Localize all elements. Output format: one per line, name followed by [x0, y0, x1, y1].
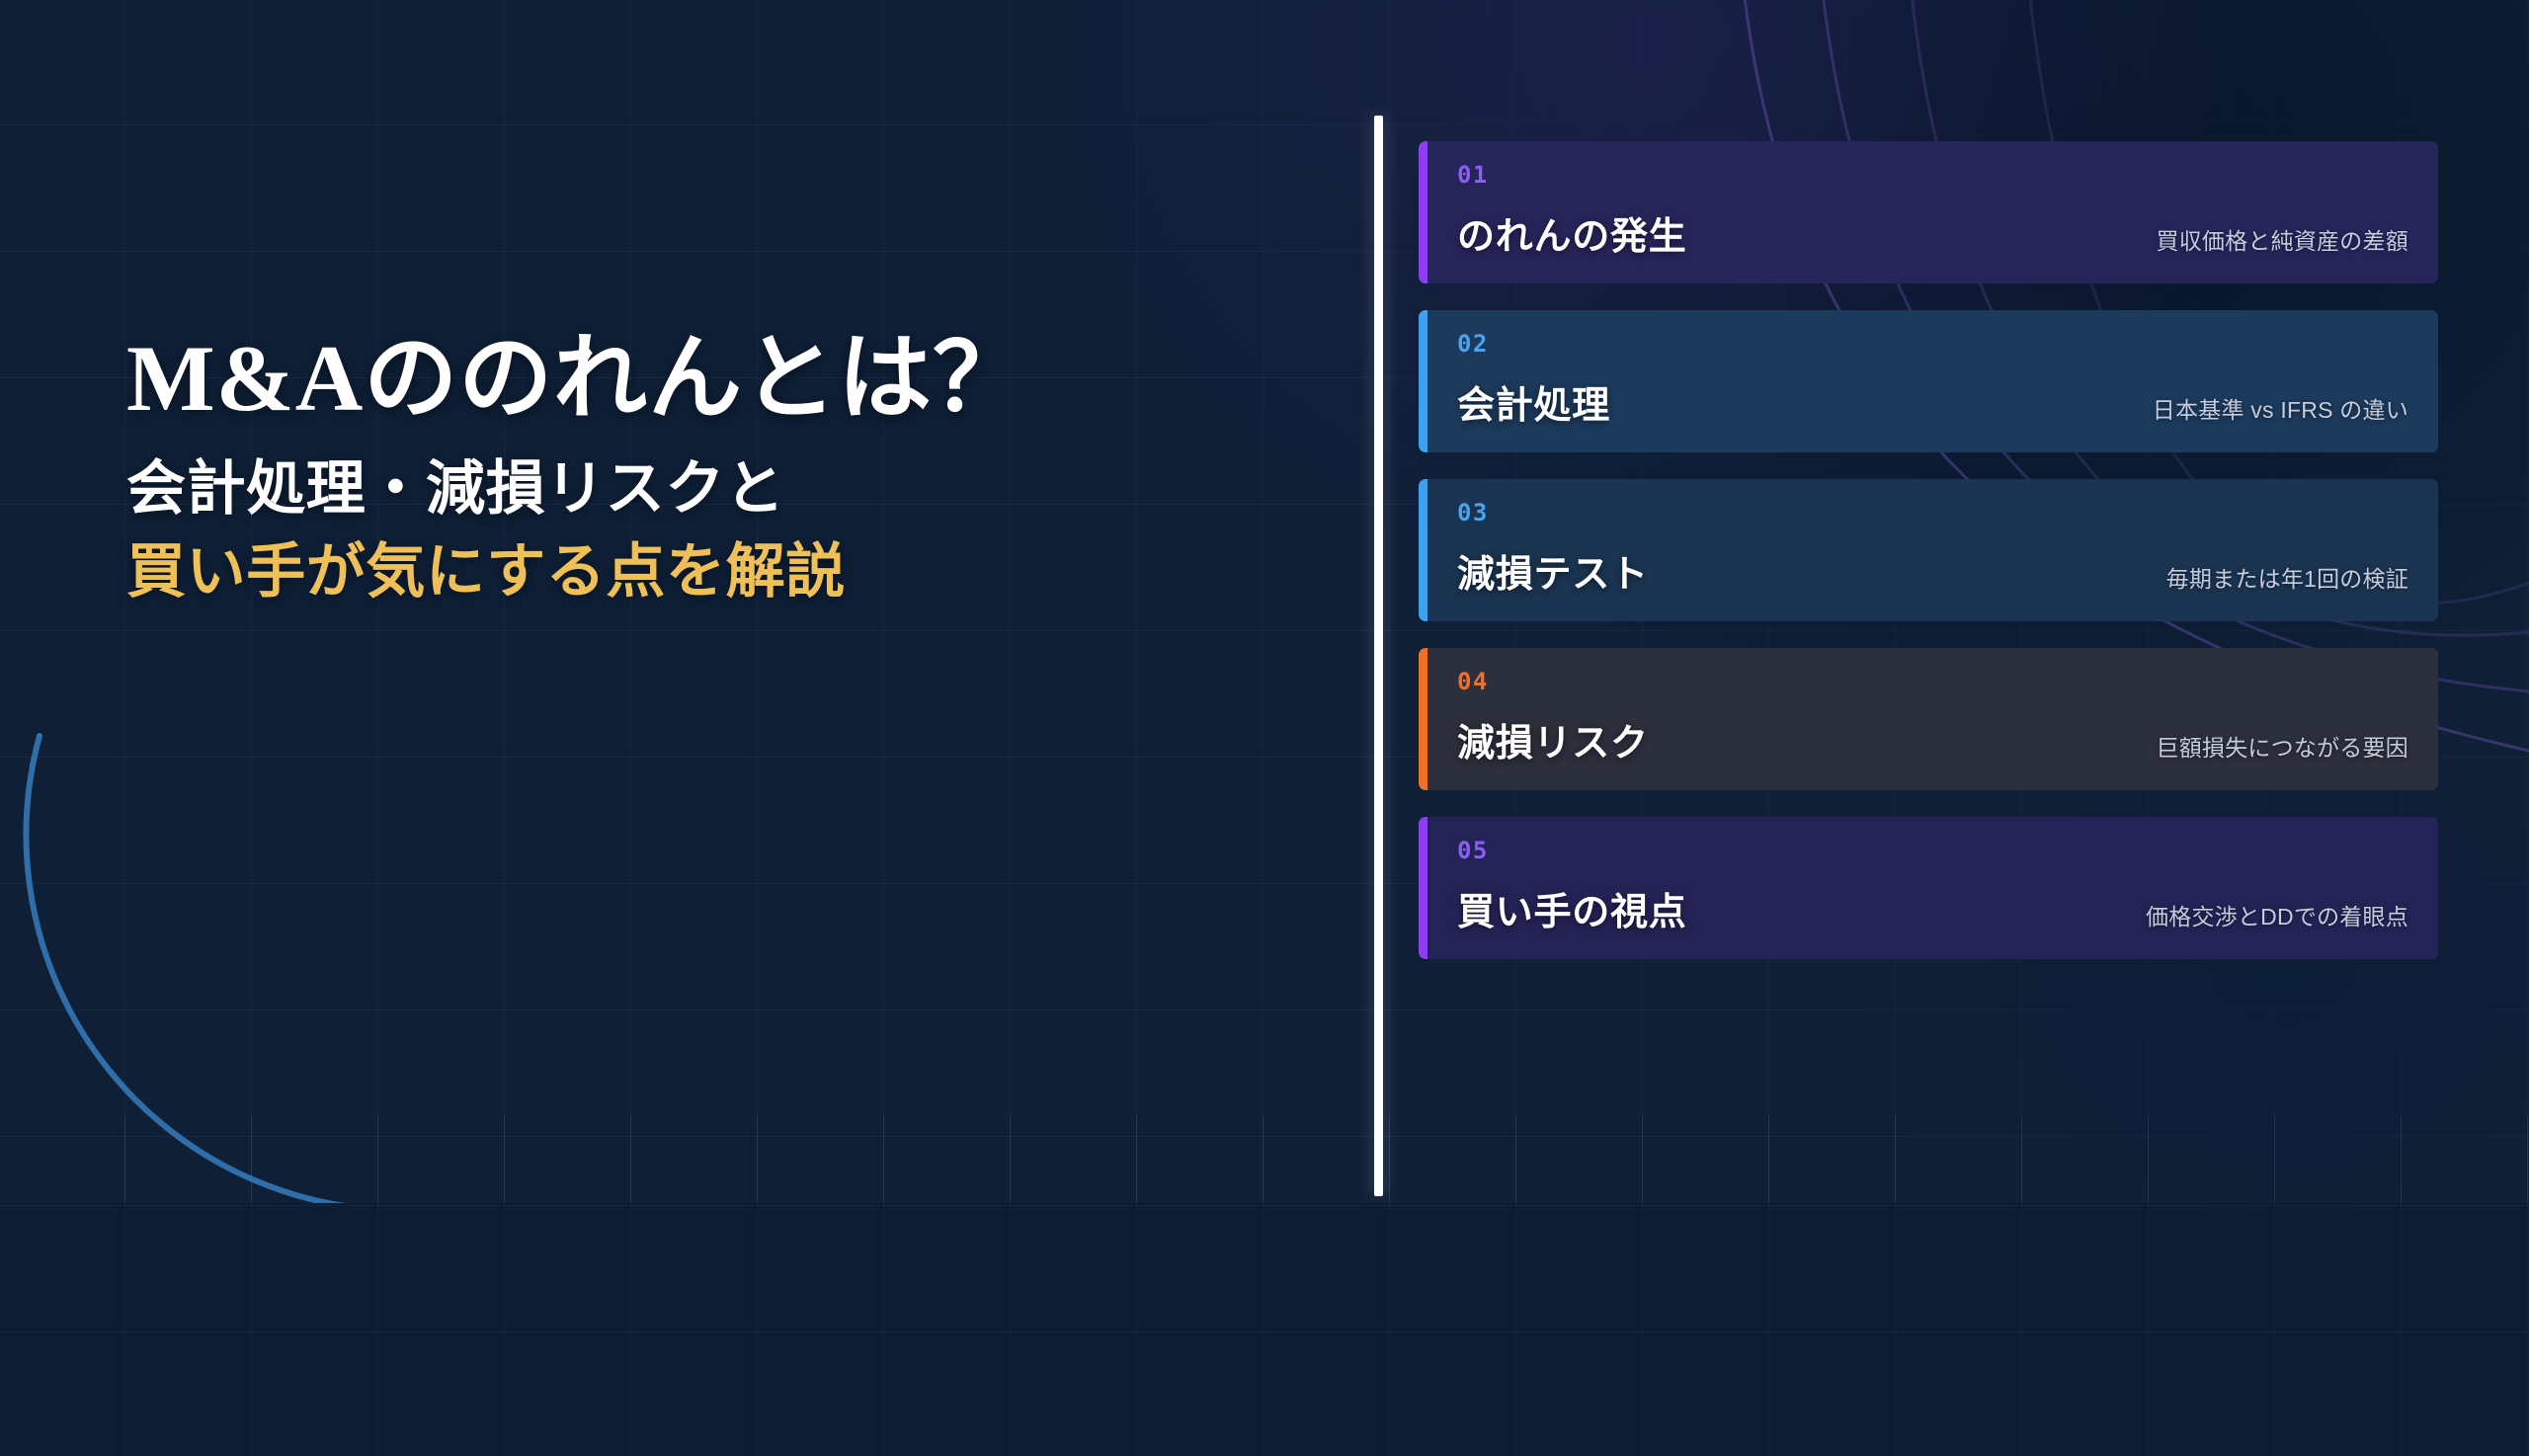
hero-subtitle-line-2: 買い手が気にする点を解説 — [126, 533, 1292, 610]
card-title-04: 減損リスク — [1457, 712, 1649, 767]
card-subtitle-05: 価格交渉とDDでの着眼点 — [2146, 898, 2408, 931]
card-row-02: 会計処理 日本基準 vs IFRS の違い — [1457, 374, 2408, 429]
card-number-03: 03 — [1457, 501, 2408, 525]
bottom-band — [0, 1203, 2529, 1456]
bottom-tick-row — [0, 1116, 2529, 1205]
card-body-02: 02 会計処理 日本基準 vs IFRS の違い — [1419, 310, 2438, 452]
hero-text-block: M&Aののれんとは？ 会計処理・減損リスクと 買い手が気にする点を解説 — [126, 326, 1292, 610]
card-title-02: 会計処理 — [1457, 374, 1610, 429]
card-number-05: 05 — [1457, 839, 2408, 862]
topic-card-list: 01 のれんの発生 買収価格と純資産の差額 02 会計処理 日本基準 vs IF… — [1419, 141, 2438, 959]
topic-card-03[interactable]: 03 減損テスト 毎期または年1回の検証 — [1419, 479, 2438, 621]
card-number-01: 01 — [1457, 163, 2408, 187]
slide-root: M&Aののれんとは？ 会計処理・減損リスクと 買い手が気にする点を解説 01 の… — [0, 0, 2529, 1456]
card-subtitle-04: 巨額損失につながる要因 — [2156, 729, 2408, 763]
card-body-01: 01 のれんの発生 買収価格と純資産の差額 — [1419, 141, 2438, 283]
card-row-04: 減損リスク 巨額損失につながる要因 — [1457, 712, 2408, 767]
card-subtitle-03: 毎期または年1回の検証 — [2166, 560, 2408, 594]
hero-subtitle-line-1: 会計処理・減損リスクと — [126, 450, 1292, 527]
topic-card-01[interactable]: 01 のれんの発生 買収価格と純資産の差額 — [1419, 141, 2438, 283]
vertical-divider — [1374, 116, 1383, 1196]
card-row-03: 減損テスト 毎期または年1回の検証 — [1457, 543, 2408, 598]
card-body-03: 03 減損テスト 毎期または年1回の検証 — [1419, 479, 2438, 621]
card-subtitle-01: 買収価格と純資産の差額 — [2156, 222, 2408, 256]
card-number-04: 04 — [1457, 670, 2408, 693]
card-body-05: 05 買い手の視点 価格交渉とDDでの着眼点 — [1419, 817, 2438, 959]
card-subtitle-02: 日本基準 vs IFRS の違い — [2153, 391, 2408, 425]
page-title: M&Aののれんとは？ — [126, 326, 1292, 431]
card-title-05: 買い手の視点 — [1457, 881, 1687, 935]
card-row-05: 買い手の視点 価格交渉とDDでの着眼点 — [1457, 881, 2408, 935]
card-title-03: 減損テスト — [1457, 543, 1649, 598]
card-row-01: のれんの発生 買収価格と純資産の差額 — [1457, 205, 2408, 260]
card-body-04: 04 減損リスク 巨額損失につながる要因 — [1419, 648, 2438, 790]
card-title-01: のれんの発生 — [1457, 205, 1687, 260]
bottom-band-grid — [0, 1203, 2529, 1456]
topic-card-05[interactable]: 05 買い手の視点 価格交渉とDDでの着眼点 — [1419, 817, 2438, 959]
card-number-02: 02 — [1457, 332, 2408, 356]
topic-card-04[interactable]: 04 減損リスク 巨額損失につながる要因 — [1419, 648, 2438, 790]
topic-card-02[interactable]: 02 会計処理 日本基準 vs IFRS の違い — [1419, 310, 2438, 452]
